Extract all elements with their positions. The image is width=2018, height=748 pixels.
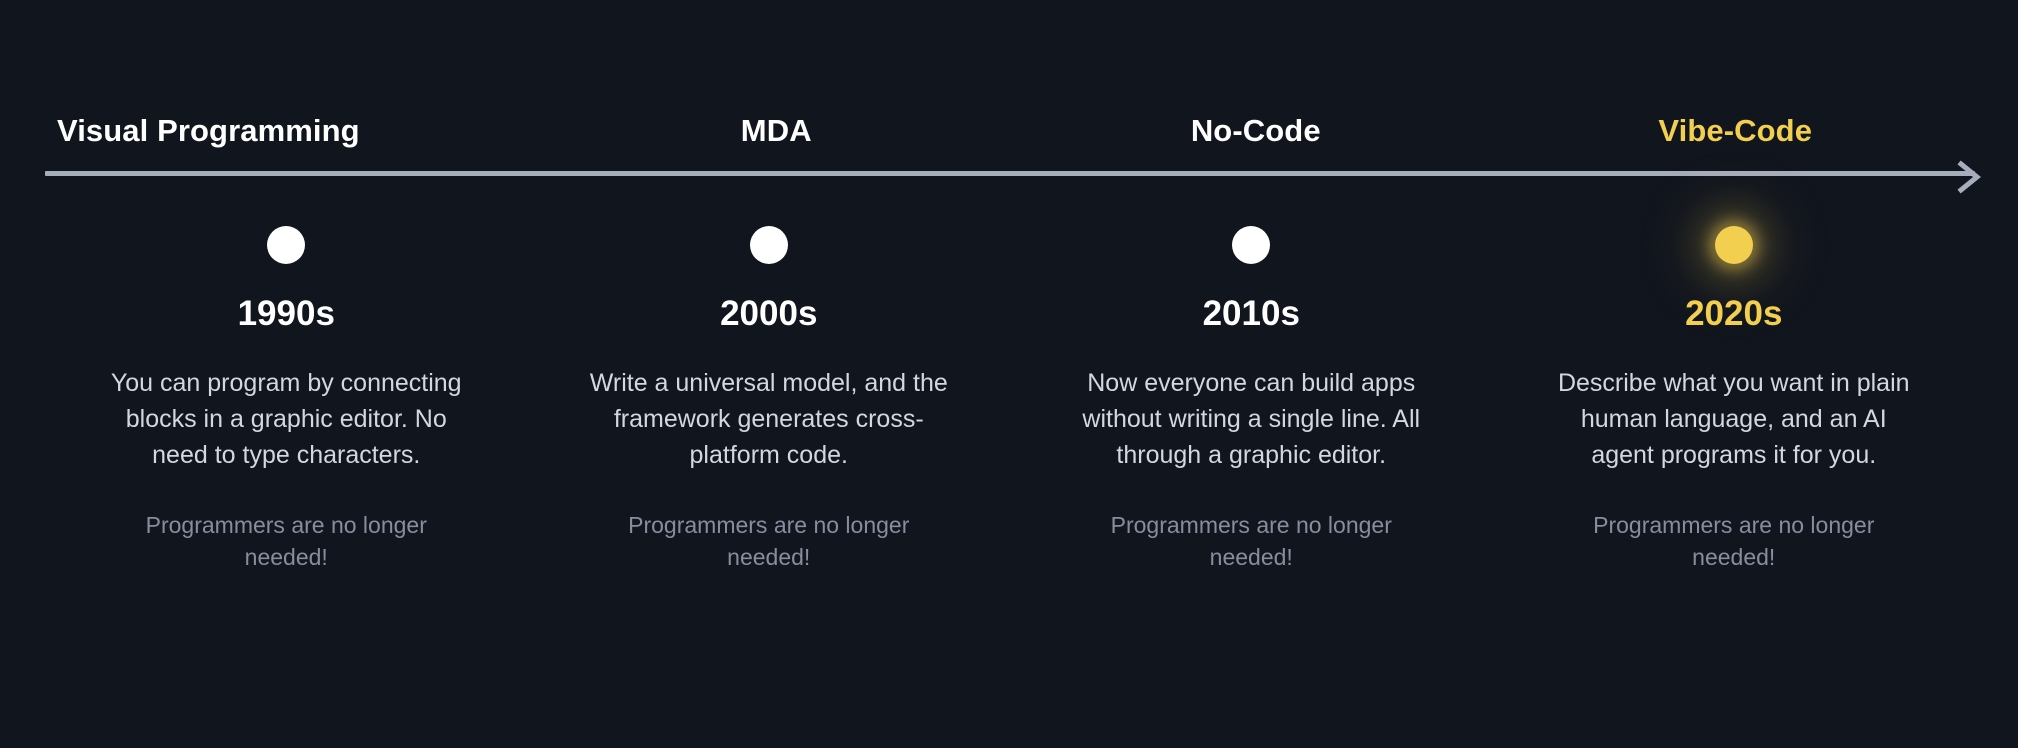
marker-zone-2 — [750, 206, 788, 284]
era-label-mda: MDA — [741, 114, 812, 148]
circle-marker-icon — [1232, 226, 1270, 264]
era-cell-1: Visual Programming — [45, 88, 537, 150]
stage-column-2010s: 2010s Now everyone can build apps withou… — [1010, 206, 1493, 686]
stage-description-2020s: Describe what you want in plain human la… — [1554, 365, 1914, 473]
marker-zone-3 — [1232, 206, 1270, 284]
stage-note-1990s: Programmers are no longer needed! — [116, 509, 456, 573]
decade-label-1990s: 1990s — [238, 295, 335, 334]
marker-zone-1 — [267, 206, 305, 284]
circle-marker-glow-icon — [1715, 226, 1753, 264]
era-label-visual-programming: Visual Programming — [57, 114, 360, 148]
stage-description-2000s: Write a universal model, and the framewo… — [589, 365, 949, 473]
stage-column-2020s: 2020s Describe what you want in plain hu… — [1493, 206, 1976, 686]
era-label-vibe-code: Vibe-Code — [1658, 114, 1812, 148]
stage-column-2000s: 2000s Write a universal model, and the f… — [528, 206, 1011, 686]
stage-column-row: 1990s You can program by connecting bloc… — [45, 206, 1975, 686]
era-label-row: Visual Programming MDA No-Code Vibe-Code — [45, 88, 1975, 150]
decade-label-2010s: 2010s — [1203, 295, 1300, 334]
stage-description-2010s: Now everyone can build apps without writ… — [1071, 365, 1431, 473]
timeline-axis — [0, 160, 2018, 206]
era-label-no-code: No-Code — [1191, 114, 1321, 148]
circle-marker-icon — [750, 226, 788, 264]
stage-note-2000s: Programmers are no longer needed! — [599, 509, 939, 573]
decade-label-2020s: 2020s — [1685, 295, 1782, 334]
stage-description-1990s: You can program by connecting blocks in … — [106, 365, 466, 473]
circle-marker-icon — [267, 226, 305, 264]
era-cell-4: Vibe-Code — [1496, 88, 1976, 150]
era-cell-2: MDA — [537, 88, 1017, 150]
timeline-diagram: Visual Programming MDA No-Code Vibe-Code… — [0, 0, 2018, 748]
marker-zone-4 — [1715, 206, 1753, 284]
arrow-right-icon — [1955, 160, 1989, 194]
decade-label-2000s: 2000s — [720, 295, 817, 334]
timeline-axis-line — [45, 171, 1975, 176]
stage-note-2010s: Programmers are no longer needed! — [1081, 509, 1421, 573]
stage-note-2020s: Programmers are no longer needed! — [1564, 509, 1904, 573]
era-cell-3: No-Code — [1016, 88, 1496, 150]
stage-column-1990s: 1990s You can program by connecting bloc… — [45, 206, 528, 686]
